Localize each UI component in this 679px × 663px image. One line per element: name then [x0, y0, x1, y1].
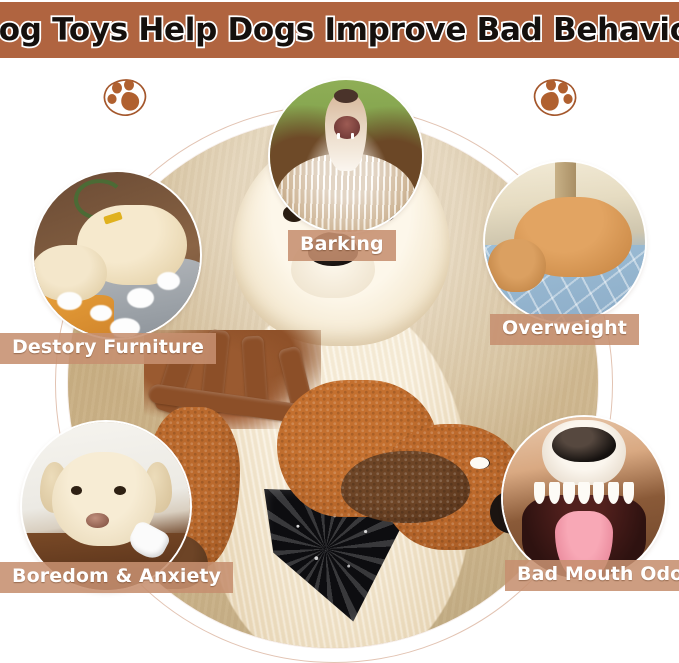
furniture-stuffing — [57, 292, 82, 310]
boredom-dog-nose — [86, 513, 110, 528]
caption-barking: Barking — [288, 230, 396, 261]
caption-boredom-anxiety: Boredom & Anxiety — [0, 562, 233, 593]
barking-dog-tooth — [337, 133, 340, 139]
toy-ear — [341, 451, 470, 523]
caption-bad-mouth-odor: Bad Mouth Odor — [505, 560, 679, 591]
overweight-dog-head — [488, 239, 546, 292]
barking-dog-nose — [334, 89, 358, 103]
bubble-bad-mouth-odor-photo — [503, 417, 665, 579]
toy-knit-texture — [341, 451, 470, 523]
infographic-stage: Dog Toys Help Dogs Improve Bad Behavior — [0, 0, 679, 663]
caption-overweight: Overweight — [490, 314, 639, 345]
odor-dog-teeth — [532, 482, 636, 505]
header-banner: Dog Toys Help Dogs Improve Bad Behavior — [0, 2, 679, 58]
boredom-dog-eye-right — [114, 486, 126, 495]
bubble-overweight — [485, 162, 645, 322]
bubble-barking — [270, 80, 422, 232]
paw-print-icon — [528, 74, 580, 129]
odor-dog-nose — [552, 427, 617, 463]
furniture-stuffing — [157, 272, 180, 290]
furniture-stuffing — [127, 288, 154, 308]
page-title: Dog Toys Help Dogs Improve Bad Behavior — [0, 12, 679, 48]
caption-destroy-furniture: Destory Furniture — [0, 333, 216, 364]
bubble-destroy-furniture — [34, 172, 200, 338]
paw-print-icon — [100, 74, 152, 129]
bubble-destroy-furniture-photo — [34, 172, 200, 338]
toy-eye — [470, 457, 490, 469]
barking-dog-tooth — [351, 133, 354, 139]
bubble-barking-photo — [270, 80, 422, 232]
bubble-overweight-photo — [485, 162, 645, 322]
bubble-bad-mouth-odor — [503, 417, 665, 579]
